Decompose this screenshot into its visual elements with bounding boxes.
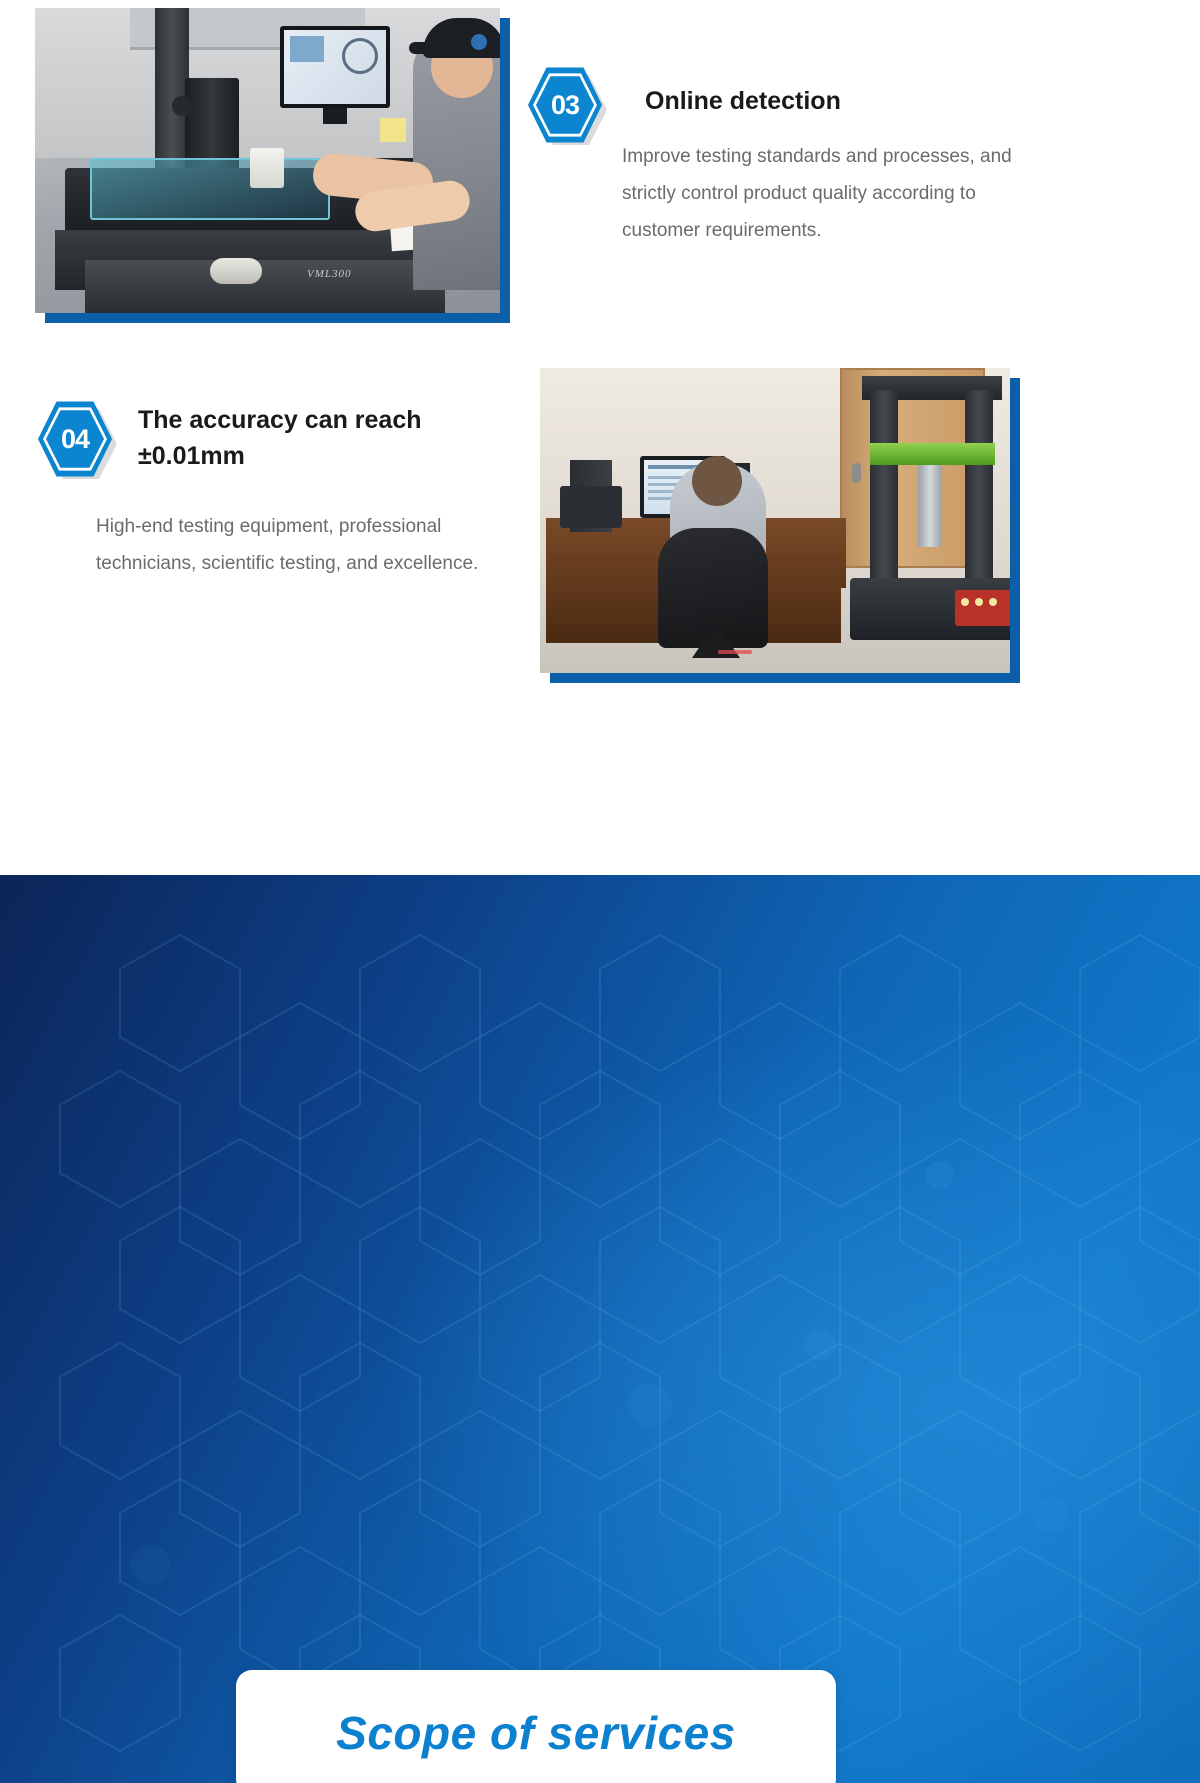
photo-image: VML300 bbox=[35, 8, 500, 313]
feature-title-03: Online detection bbox=[645, 83, 1025, 119]
badge-number: 04 bbox=[38, 400, 112, 478]
scope-of-services-section: Scope of services 01 CNC processing of e… bbox=[0, 875, 1200, 1783]
feature-body-03: Improve testing standards and processes,… bbox=[622, 138, 1022, 249]
online-detection-photo: VML300 bbox=[35, 8, 500, 313]
accuracy-testing-photo bbox=[540, 368, 1010, 673]
scope-title-card: Scope of services bbox=[236, 1670, 836, 1783]
features-section: VML300 03 Online detection Improve testi… bbox=[0, 0, 1200, 875]
scope-heading: Scope of services bbox=[336, 1706, 736, 1760]
machine-model-label: VML300 bbox=[307, 268, 352, 280]
feature-badge-03: 03 bbox=[528, 66, 606, 144]
hexagon-network-pattern bbox=[0, 875, 1200, 1783]
badge-number: 03 bbox=[528, 66, 602, 144]
feature-badge-04: 04 bbox=[38, 400, 116, 478]
feature-body-04: High-end testing equipment, professional… bbox=[96, 508, 526, 582]
photo-image bbox=[540, 368, 1010, 673]
feature-title-04: The accuracy can reach ±0.01mm bbox=[138, 402, 508, 475]
